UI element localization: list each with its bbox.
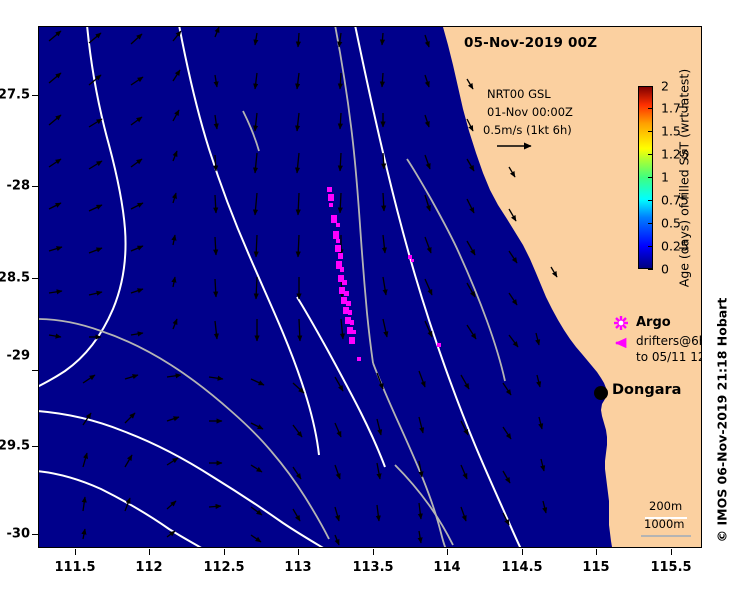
y-tick	[32, 95, 38, 96]
map-figure: 05-Nov-2019 00Z NRT00 GSL 01-Nov 00:00Z …	[0, 0, 739, 592]
annotation-vector-scale: 0.5m/s (1kt 6h)	[483, 123, 572, 137]
colorbar-tick	[648, 200, 653, 201]
x-tick	[298, 549, 299, 555]
copyright-notice: © IMOS 06-Nov-2019 21:18 Hobart	[715, 298, 730, 543]
legend-label-drifters: drifters@6h	[636, 334, 702, 348]
colorbar-label: 0	[661, 262, 669, 277]
colorbar-label: 1	[661, 170, 669, 185]
y-tick-label: -28	[7, 179, 31, 194]
annotation-valid-time: 01-Nov 00:00Z	[487, 105, 573, 119]
y-tick-label: -27.5	[0, 88, 30, 103]
colorbar-title: Age (days) of filled SST (wrt latest)	[677, 69, 692, 287]
y-tick-label: -30	[7, 527, 31, 542]
annotation-source: NRT00 GSL	[487, 87, 551, 101]
colorbar-tick	[648, 131, 653, 132]
map-plot-area[interactable]: 05-Nov-2019 00Z NRT00 GSL 01-Nov 00:00Z …	[38, 26, 702, 548]
dongara-marker	[594, 386, 608, 400]
depth-key-200m: 200m	[649, 499, 682, 513]
x-tick-label: 112.5	[203, 560, 244, 575]
y-tick	[32, 446, 38, 447]
y-tick-label: -29.5	[0, 439, 30, 454]
x-tick-label: 114	[433, 560, 460, 575]
y-tick	[32, 534, 38, 535]
drifter-arrow-icon	[613, 337, 629, 349]
x-tick-label: 113.5	[352, 560, 393, 575]
x-tick-label: 115.5	[650, 560, 691, 575]
colorbar-tick	[648, 177, 653, 178]
depth-key-1000m: 1000m	[644, 517, 684, 531]
place-label-dongara: Dongara	[612, 382, 681, 398]
legend-label-drifter-period: to 05/11 12Z	[636, 350, 702, 364]
x-tick	[596, 549, 597, 555]
colorbar-tick	[648, 223, 653, 224]
y-tick	[32, 278, 38, 279]
argo-star-icon	[612, 314, 630, 332]
y-tick	[32, 186, 38, 187]
x-tick-label: 112	[135, 560, 162, 575]
x-tick	[75, 549, 76, 555]
map-title: 05-Nov-2019 00Z	[464, 35, 597, 51]
y-tick-label: -28.5	[0, 271, 30, 286]
y-tick-label: -29	[7, 349, 31, 364]
colorbar-tick	[648, 269, 653, 270]
legend-label-argo: Argo	[636, 315, 671, 330]
x-tick	[224, 549, 225, 555]
x-tick	[671, 549, 672, 555]
x-tick-label: 111.5	[54, 560, 95, 575]
colorbar-tick	[648, 154, 653, 155]
y-tick	[32, 370, 38, 371]
x-tick	[373, 549, 374, 555]
colorbar-tick	[648, 108, 653, 109]
x-tick	[149, 549, 150, 555]
x-tick	[447, 549, 448, 555]
colorbar-label: 2	[661, 79, 669, 94]
x-tick-label: 113	[284, 560, 311, 575]
colorbar-tick	[648, 246, 653, 247]
map-canvas	[39, 27, 701, 547]
depth-key-1000m-line	[641, 535, 691, 537]
colorbar-tick	[648, 86, 653, 87]
x-tick-label: 114.5	[501, 560, 542, 575]
x-tick-label: 115	[582, 560, 609, 575]
y-axis: -27.5 -28 -28.5 -29 -29.5 -30	[0, 0, 30, 592]
x-tick	[522, 549, 523, 555]
vector-scale-arrow	[495, 139, 539, 153]
